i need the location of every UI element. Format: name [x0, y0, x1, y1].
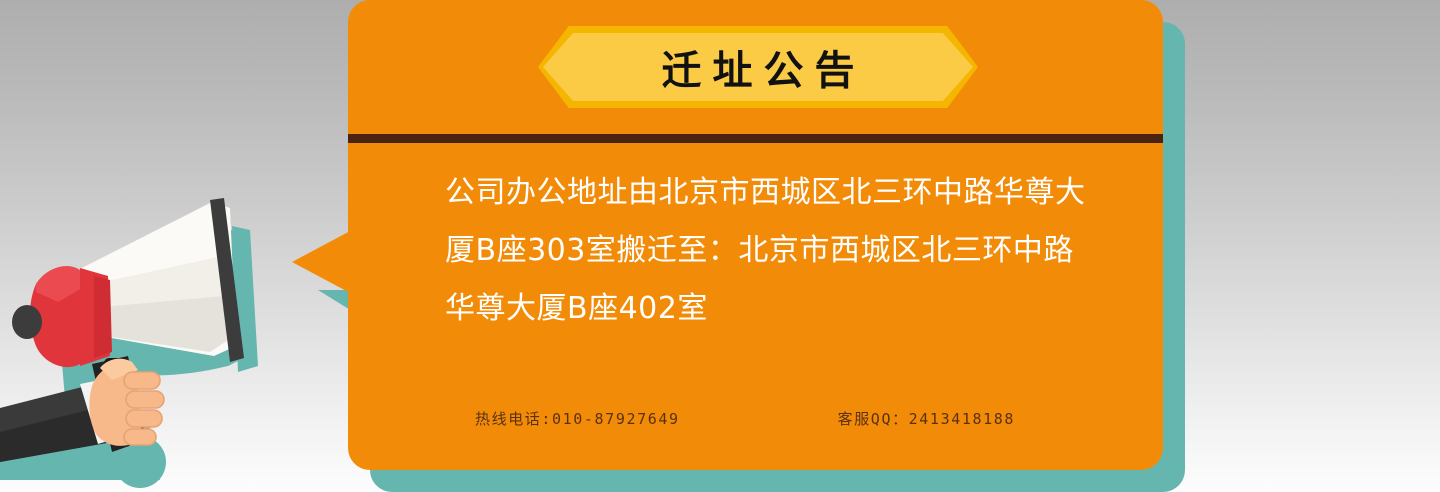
announcement-body: 公司办公地址由北京市西城区北三环中路华尊大厦B座303室搬迁至：北京市西城区北三… — [445, 164, 1093, 338]
announcement-title: 迁址公告 — [538, 26, 978, 108]
contact-footer: 热线电话:010-87927649 客服QQ：2413418188 — [445, 408, 1085, 429]
megaphone-body-icon — [30, 266, 112, 367]
announcement-banner: 迁址公告 公司办公地址由北京市西城区北三环中路华尊大厦B座303室搬迁至：北京市… — [0, 0, 1440, 492]
megaphone-knob-icon — [12, 305, 42, 339]
title-divider — [348, 134, 1163, 143]
hotline-text: 热线电话:010-87927649 — [475, 408, 680, 429]
title-banner: 迁址公告 — [538, 26, 978, 108]
qq-text: 客服QQ：2413418188 — [838, 408, 1015, 429]
megaphone-illustration — [0, 180, 330, 492]
